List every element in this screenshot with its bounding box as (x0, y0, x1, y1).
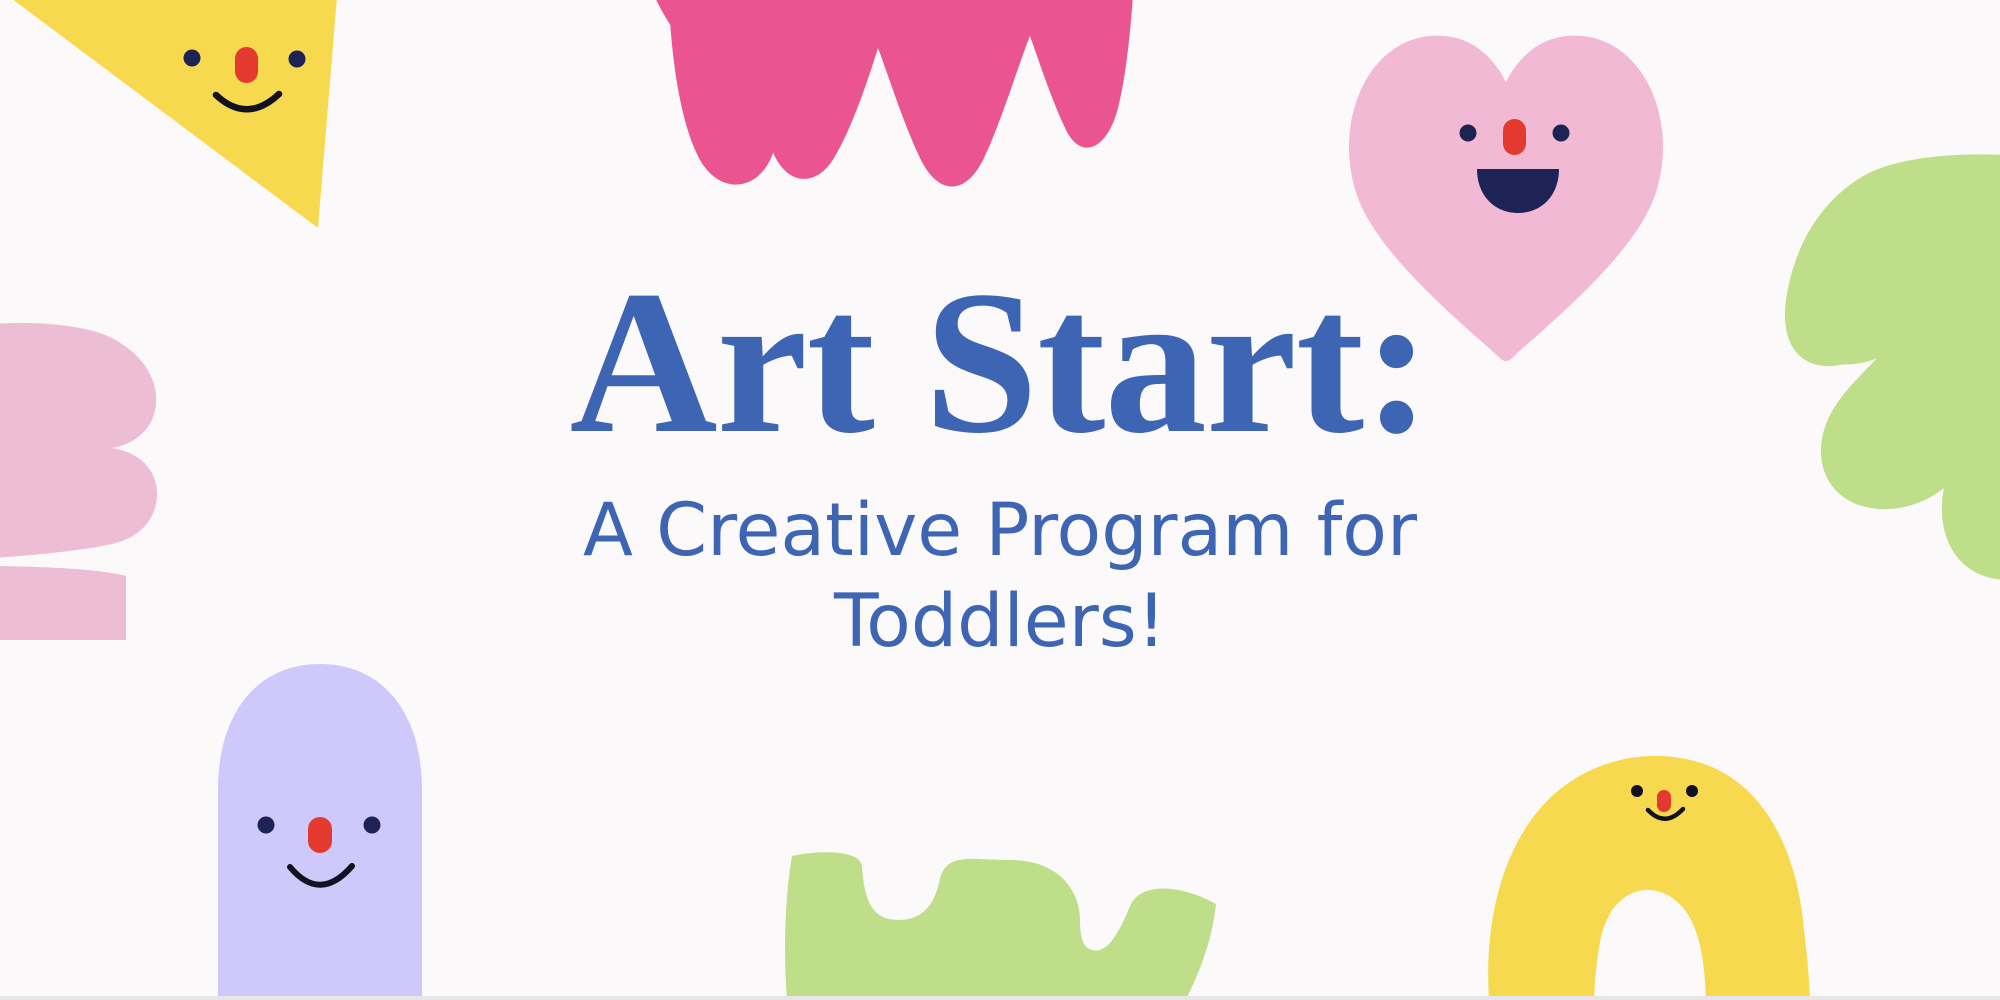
pink-blob-path (0, 323, 157, 640)
pink-blob-left (0, 323, 157, 640)
decorative-art-layer (0, 0, 2000, 1000)
eye-dot (1686, 785, 1698, 797)
eye-dot (289, 51, 306, 68)
nose-rounded-rect (308, 817, 332, 853)
bottom-divider (0, 996, 2000, 1000)
magenta-flower-shape (640, 0, 1135, 187)
eye-dot (1631, 785, 1643, 797)
eye-dot (1460, 125, 1477, 142)
green-blob-right (1785, 154, 2000, 579)
nose-rounded-rect (1503, 119, 1526, 155)
nose-rounded-rect (235, 47, 258, 83)
green-wave-shape (785, 852, 1216, 1000)
yellow-arch-body (1488, 756, 1810, 1000)
yellow-triangle-character (0, 0, 340, 228)
lavender-arch-character (218, 664, 422, 1000)
poster-canvas: Art Start: A Creative Program for Toddle… (0, 0, 2000, 1000)
eye-dot (184, 50, 201, 67)
yellow-arch-character (1488, 756, 1810, 1000)
eye-dot (258, 817, 275, 834)
pink-heart-character (1349, 36, 1663, 361)
green-wave-path (785, 852, 1216, 1000)
eye-dot (1553, 125, 1570, 142)
eye-dot (364, 817, 381, 834)
nose-rounded-rect (1657, 790, 1671, 812)
magenta-petal-left (668, 0, 783, 185)
yellow-triangle-body (0, 0, 340, 228)
